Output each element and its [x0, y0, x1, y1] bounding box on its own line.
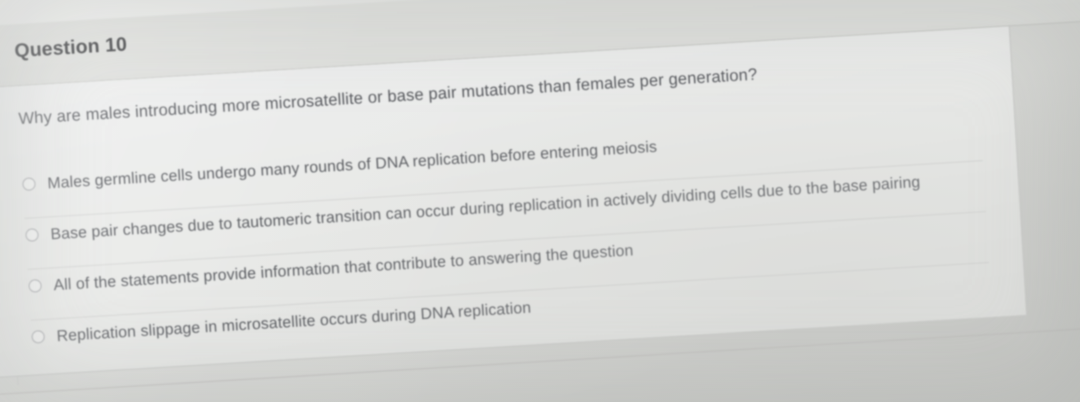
page-plane: Question 10 Why are males introducing mo… [0, 0, 1080, 402]
page-title: Question 10 [14, 33, 128, 63]
answer-options-list[interactable]: Males germline cells undergo many rounds… [22, 110, 992, 370]
radio-button-icon-b[interactable] [25, 228, 39, 242]
radio-button-icon-c[interactable] [28, 279, 42, 293]
photo-blur-layer: Question 10 Why are males introducing mo… [0, 0, 1080, 402]
radio-button-icon-d[interactable] [31, 330, 45, 344]
radio-button-icon-a[interactable] [22, 177, 36, 191]
question-card: Why are males introducing more microsate… [0, 26, 1027, 381]
quiz-question-screenshot: Question 10 Why are males introducing mo… [0, 0, 1080, 402]
